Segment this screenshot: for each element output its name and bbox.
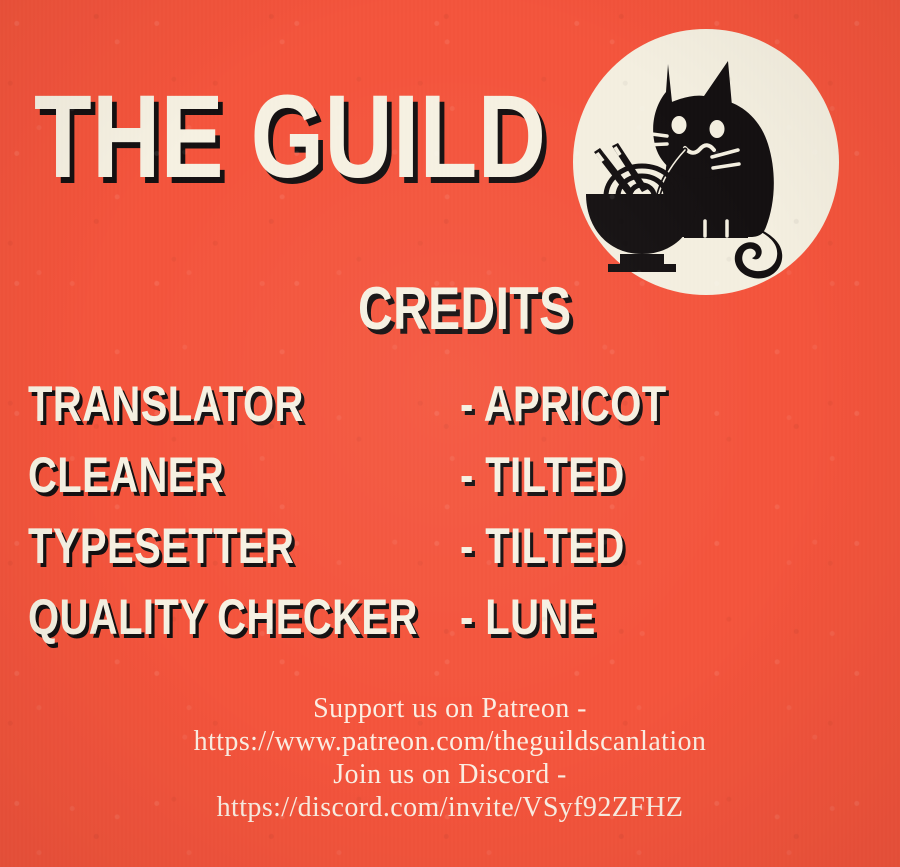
credits-heading: CREDITS — [358, 279, 571, 339]
credit-name: - APRICOT — [460, 378, 667, 430]
cat-eating-ramen-logo — [572, 28, 840, 296]
credit-row: TYPESETTER - TILTED — [28, 520, 648, 591]
credit-row: TRANSLATOR - APRICOT — [28, 378, 648, 449]
page-title: THE GUILD — [34, 78, 546, 196]
credit-name: - LUNE — [460, 591, 596, 643]
discord-label: Join us on Discord - — [0, 758, 900, 791]
credit-name: - TILTED — [460, 449, 625, 501]
credit-list: TRANSLATOR - APRICOT CLEANER - TILTED TY… — [28, 378, 648, 662]
credit-role: CLEANER — [28, 449, 224, 501]
credits-page: THE GUILD — [0, 0, 900, 867]
patreon-url[interactable]: https://www.patreon.com/theguildscanlati… — [0, 725, 900, 758]
credit-row: CLEANER - TILTED — [28, 449, 648, 520]
credit-role: TRANSLATOR — [28, 378, 304, 430]
credit-name: - TILTED — [460, 520, 625, 572]
credit-role: QUALITY CHECKER — [28, 591, 418, 643]
credit-row: QUALITY CHECKER - LUNE — [28, 591, 648, 662]
credit-role: TYPESETTER — [28, 520, 294, 572]
discord-url[interactable]: https://discord.com/invite/VSyf92ZFHZ — [0, 791, 900, 824]
footer-links: Support us on Patreon - https://www.patr… — [0, 692, 900, 824]
patreon-label: Support us on Patreon - — [0, 692, 900, 725]
